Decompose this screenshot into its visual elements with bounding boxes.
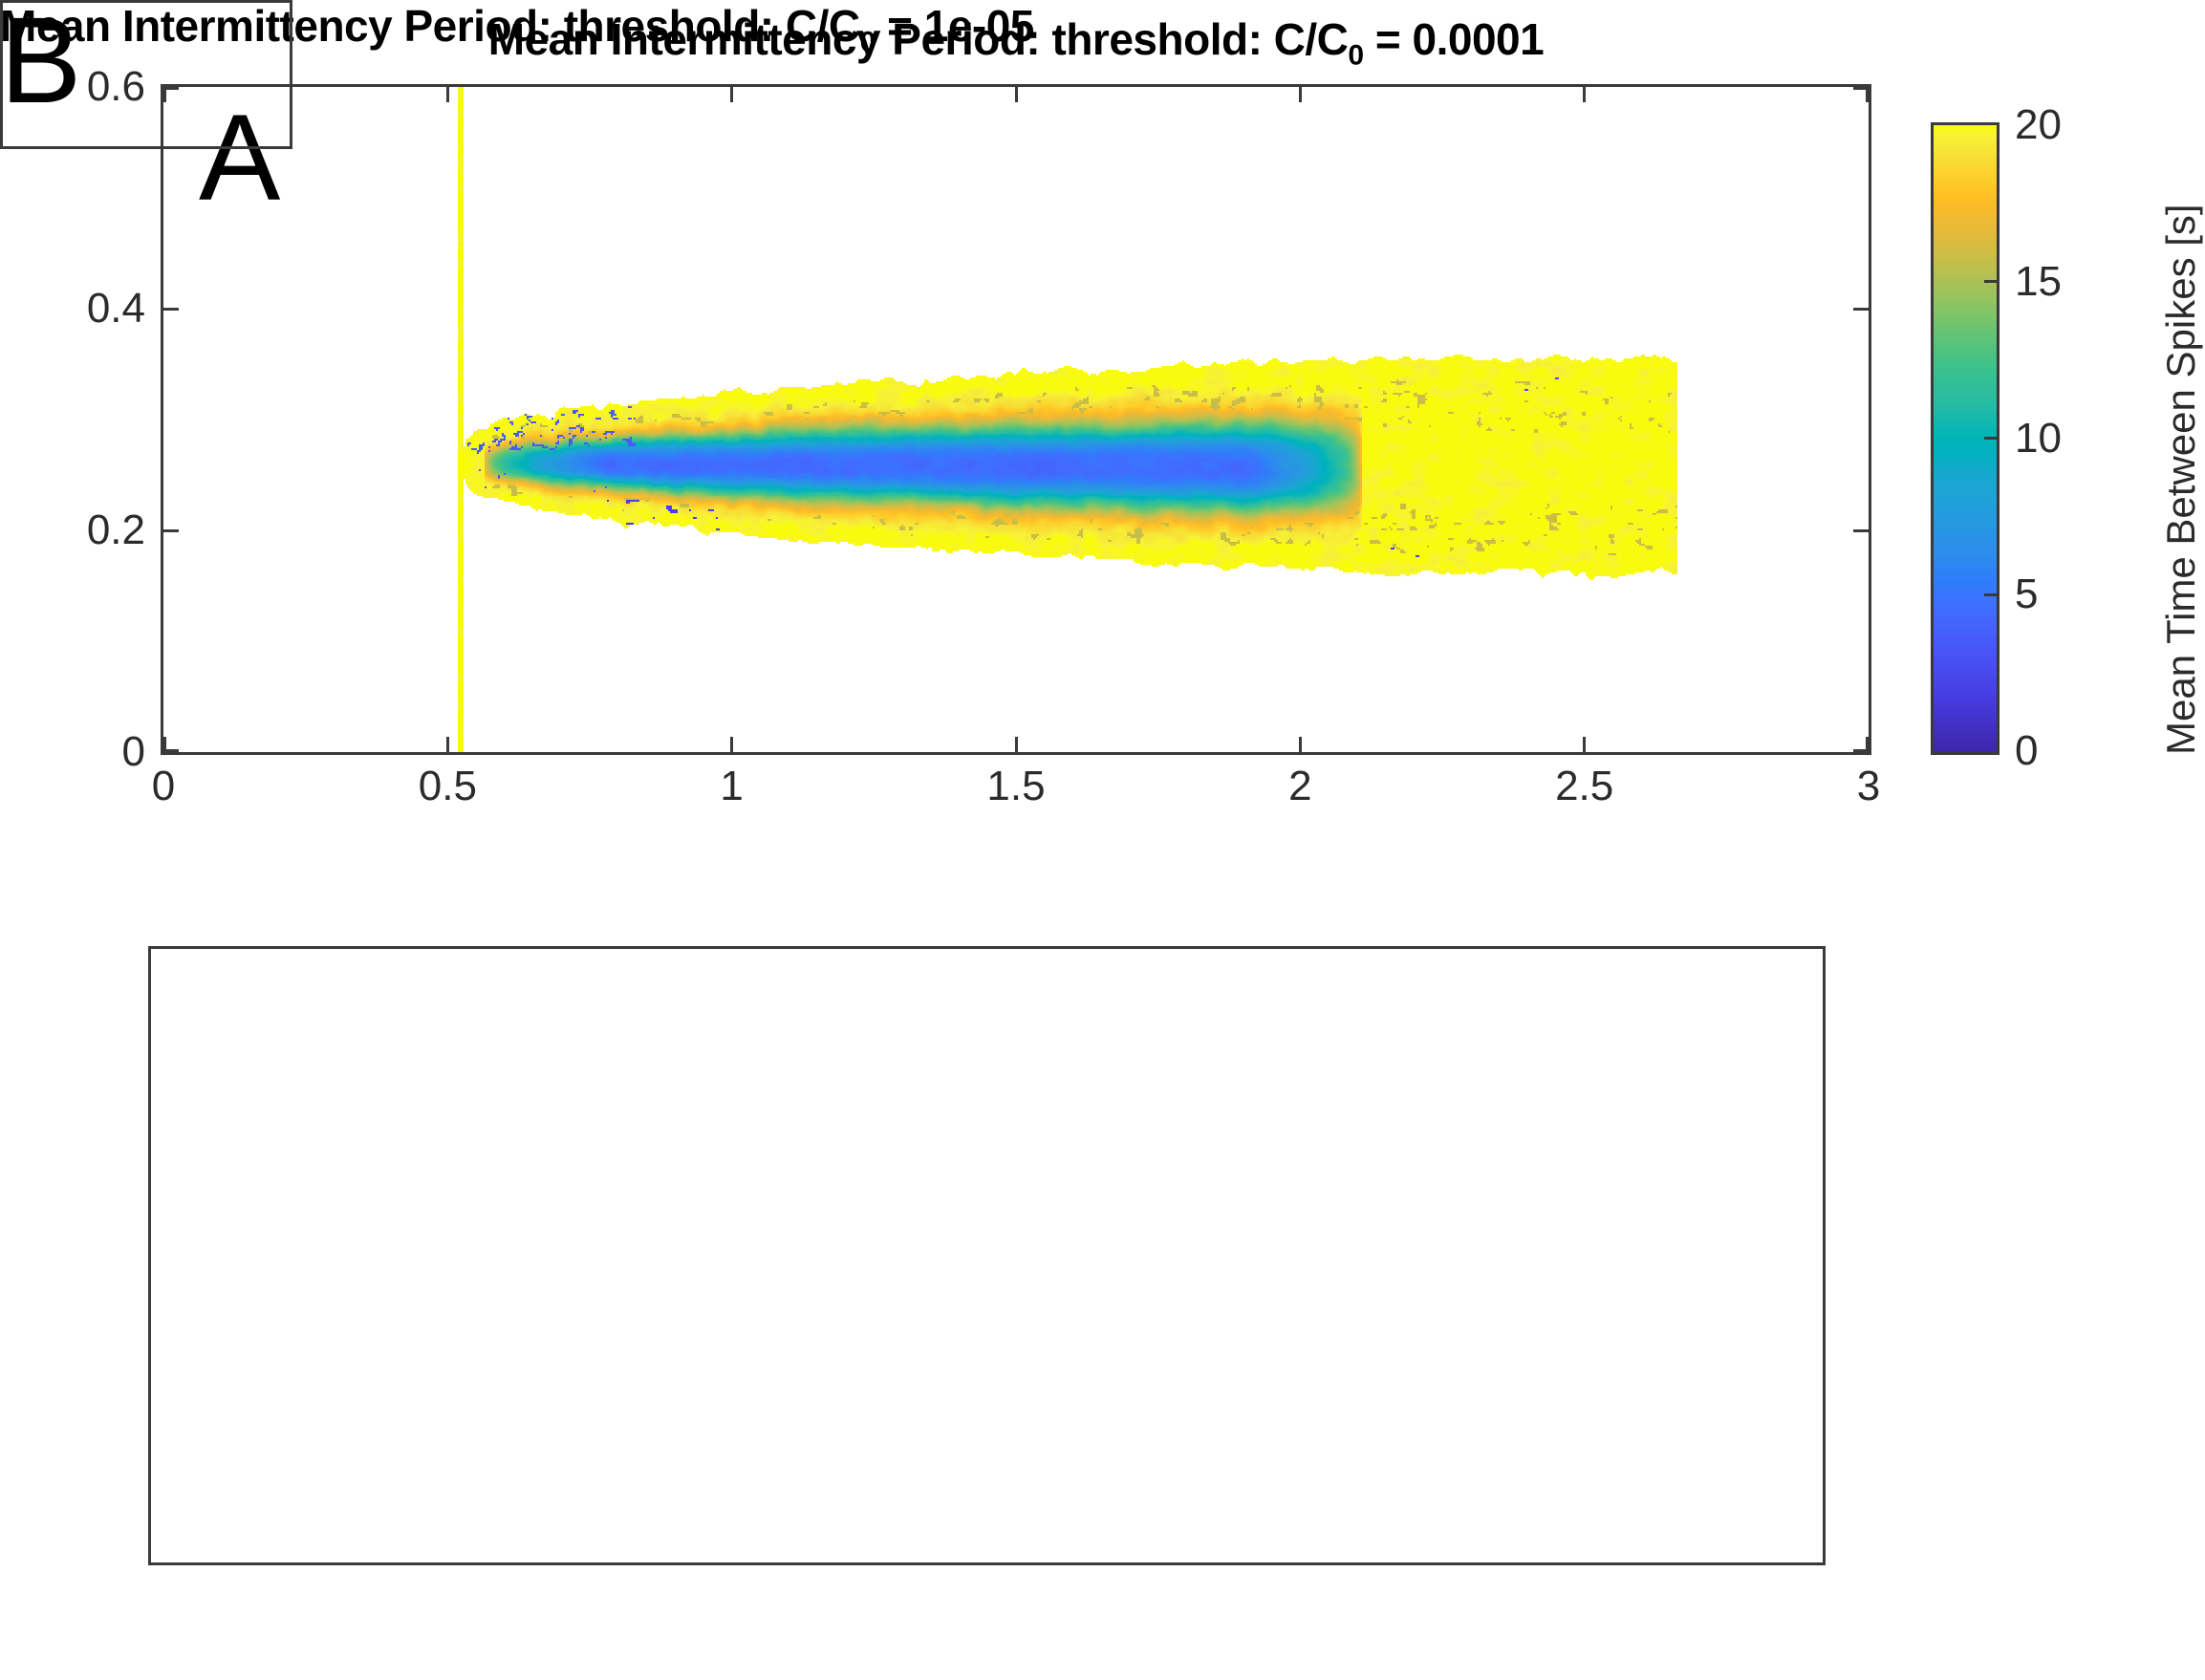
panel-a-xtick [1583, 737, 1586, 752]
panel-a-colorbar-label: Mean Time Between Spikes [s] [2158, 204, 2204, 755]
panel-a-ytick [163, 749, 179, 752]
panel-a-ytick [1853, 87, 1869, 90]
panel-a-xtick [1299, 87, 1302, 102]
panel-a-xtick [1583, 87, 1586, 102]
panel-a-yticklabel: 0 [38, 728, 145, 776]
panel-a-xtick [1299, 737, 1302, 752]
panel-a-ytick [1853, 308, 1869, 311]
panel-a-colorbar-tick [1984, 280, 1998, 283]
panel-a-xtick [1015, 737, 1018, 752]
panel-a-colorbar-ticklabel: 10 [2015, 415, 2062, 463]
panel-a-yticklabel: 0.6 [38, 63, 145, 111]
figure-root: Mean Intermittency Period: threshold: C/… [0, 0, 2205, 1680]
panel-b-title-suffix: = 1e-05 [876, 1, 1034, 51]
panel-a-xtick [1015, 87, 1018, 102]
panel-a-ytick [163, 308, 179, 311]
panel-a-xticklabel: 1.5 [986, 763, 1045, 810]
panel-a-yticklabel: 0.2 [38, 506, 145, 554]
panel-a-ytick [1853, 529, 1869, 532]
panel-a-yticklabel: 0.4 [38, 285, 145, 333]
panel-a-title-subscript: 0 [1348, 40, 1363, 72]
panel-a-xticklabel: 2.5 [1555, 763, 1613, 810]
panel-a-colorbar-ticklabel: 5 [2015, 571, 2038, 618]
panel-a-xtick [446, 737, 449, 752]
panel-b-axes[interactable] [148, 946, 1826, 1565]
panel-a-xticklabel: 2 [1288, 763, 1311, 810]
panel-a-xticklabel: 0 [152, 763, 175, 810]
panel-a-colorbar-ticklabel: 20 [2015, 101, 2062, 149]
panel-a-axes[interactable] [161, 84, 1871, 755]
panel-a-title-suffix: = 0.0001 [1364, 14, 1545, 64]
panel-b-heatmap [151, 949, 1823, 1562]
panel-a-xticklabel: 3 [1857, 763, 1880, 810]
panel-a-xtick [730, 737, 733, 752]
panel-a-colorbar-tick [1984, 437, 1998, 440]
panel-a-colorbar-ticklabel: 0 [2015, 727, 2038, 775]
panel-a-ytick [163, 529, 179, 532]
panel-a-heatmap [163, 87, 1869, 752]
panel-a-xticklabel: 1 [720, 763, 743, 810]
panel-a-xtick [446, 87, 449, 102]
panel-a-colorbar-tick [1984, 593, 1998, 596]
panel-b-title-subscript: 0 [860, 27, 876, 58]
panel-a-xticklabel: 0.5 [419, 763, 477, 810]
panel-a-ytick [1853, 749, 1869, 752]
panel-a-xtick [730, 87, 733, 102]
panel-a-colorbar-ticklabel: 15 [2015, 258, 2062, 306]
